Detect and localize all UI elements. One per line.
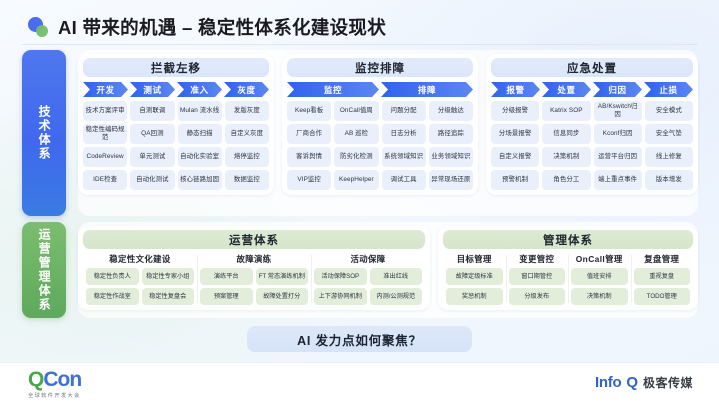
tech-cell-column: Mulan 流水线静态扫描自动化实验室核心链路加固 (178, 101, 222, 190)
ops-capability-cell: 故障处置打分 (256, 288, 309, 305)
tech-capability-cell: QA回测 (130, 124, 174, 144)
ops-column: 目标管理故障定级标准奖惩机制 (443, 252, 506, 305)
tech-capability-cell: 自定义报警 (491, 147, 539, 167)
slide-root: AI 带来的机遇 – 稳定性体系化建设现状 技术体系 运营管理体系 拦截左移开发… (0, 0, 719, 404)
ops-column: 复盘管理重视复盘TODO管理 (631, 252, 694, 305)
ops-capability-cell: 活动保障SOP (314, 268, 367, 285)
tech-stage-chevron: 止损 (644, 82, 693, 97)
tech-capability-cell: AB 巡检 (334, 124, 378, 144)
tech-cell-column: Katrix SOP信息同步决策机制角色分工 (542, 101, 590, 190)
ops-group-title: 运营体系 (83, 230, 425, 249)
ops-column-row: 目标管理故障定级标准奖惩机制变更管控窗口期管控分级发布OnCall管理值班安排决… (443, 252, 693, 305)
tech-capability-cell: 客诉舆情 (287, 147, 331, 167)
rail-ops-label: 运营管理体系 (37, 228, 51, 312)
rail-tech-label: 技术体系 (37, 105, 51, 161)
tech-stage-row: 开发测试准入灰度 (83, 82, 269, 97)
tech-capability-cell: 技术方案评审 (83, 101, 127, 121)
tech-stage-chevron: 处置 (542, 82, 591, 97)
ops-capability-cell: 稳定性负责人 (86, 268, 139, 285)
tech-capability-cell: KeepHelper (334, 170, 378, 190)
ops-cell-column: 重视复盘TODO管理 (634, 268, 691, 305)
ops-cell-grid: 重视复盘TODO管理 (634, 268, 691, 305)
ops-group-1: 运营体系稳定性文化建设稳定性负责人稳定性作战室稳定性专家小组稳定性复盘会故障演练… (78, 226, 430, 310)
tech-capability-cell: 安全模式 (645, 101, 693, 121)
ops-cell-column: FT 常态演练机制故障处置打分 (256, 268, 309, 305)
infoq-logo: InfoQ 极客传媒 (595, 374, 693, 391)
tech-capability-cell: AB/Kswitch归因 (594, 101, 642, 121)
infoq-logo-cn: 极客传媒 (643, 374, 693, 391)
qcon-logo-q: Q (28, 368, 43, 391)
tech-capability-cell: 自定义灰度 (225, 124, 269, 144)
ops-capability-cell: TODO管理 (634, 288, 691, 305)
tech-stage-chevron: 测试 (130, 82, 175, 97)
tech-cell-column: 发版灰度自定义灰度熔停监控数据监控 (225, 101, 269, 190)
tech-capability-cell: 单元测试 (130, 147, 174, 167)
ops-capability-cell: FT 常态演练机制 (256, 268, 309, 285)
tech-capability-cell: 信息同步 (542, 124, 590, 144)
qcon-logo-subtitle: 全球软件开发大会 (28, 392, 81, 399)
tech-capability-cell: 分级触达 (429, 101, 473, 121)
tech-stage-row: 监控排障 (287, 82, 473, 97)
tech-stage-chevron: 报警 (491, 82, 540, 97)
ops-cell-grid: 活动保障SOP上下游协同机制准出红线内测/公测规范 (314, 268, 422, 305)
tech-cell-column: 问题分配日志分析系统领域知识调试工具 (382, 101, 426, 190)
ops-group-title: 管理体系 (443, 230, 693, 249)
ops-capability-cell: 奖惩机制 (446, 288, 503, 305)
ops-cell-grid: 演练平台预案管理FT 常态演练机制故障处置打分 (200, 268, 308, 305)
tech-capability-cell: 异常现场还原 (429, 170, 473, 190)
header-divider (22, 44, 698, 45)
tech-group-title: 拦截左移 (83, 58, 269, 77)
ops-cell-column: 稳定性专家小组稳定性复盘会 (142, 268, 195, 305)
tech-capability-cell: 静态扫描 (178, 124, 222, 144)
tech-capability-cell: IDE检查 (83, 170, 127, 190)
tech-cell-column: Keep看板厂商合作客诉舆情VIP监控 (287, 101, 331, 190)
ops-capability-cell: 预案管理 (200, 288, 253, 305)
slide-header: AI 带来的机遇 – 稳定性体系化建设现状 (28, 14, 386, 40)
tech-capability-cell: Katrix SOP (542, 101, 590, 121)
ops-column: 故障演练演练平台预案管理FT 常态演练机制故障处置打分 (197, 252, 311, 305)
ops-group-2: 管理体系目标管理故障定级标准奖惩机制变更管控窗口期管控分级发布OnCall管理值… (438, 226, 698, 310)
tech-capability-cell: 业务领域知识 (429, 147, 473, 167)
two-circles-logo-icon (28, 17, 49, 38)
tech-capability-cell: 决策机制 (542, 147, 590, 167)
tech-capability-cell: 防劣化检测 (334, 147, 378, 167)
tech-cell-column: OnCall值周AB 巡检防劣化检测KeepHelper (334, 101, 378, 190)
ops-column: 变更管控窗口期管控分级发布 (506, 252, 569, 305)
ops-capability-cell: 分级发布 (509, 288, 566, 305)
tech-cell-column: 安全模式安全气垫线上修复版本增发 (645, 101, 693, 190)
ops-capability-cell: 稳定性专家小组 (142, 268, 195, 285)
tech-capability-cell: Keep看板 (287, 101, 331, 121)
tech-stage-chevron: 准入 (177, 82, 222, 97)
ops-column-heading: 活动保障 (314, 252, 422, 268)
infoq-logo-info: Info (595, 374, 621, 391)
tech-capability-cell: CodeReview (83, 147, 127, 167)
ops-column-heading: OnCall管理 (571, 252, 628, 268)
tech-stage-chevron: 排障 (381, 82, 473, 97)
tech-capability-cell: 自动化实验室 (178, 147, 222, 167)
tech-capability-cell: 自测联调 (130, 101, 174, 121)
tech-capability-cell: 系统领域知识 (382, 147, 426, 167)
tech-capability-cell: 厂商合作 (287, 124, 331, 144)
ops-cell-column: 活动保障SOP上下游协同机制 (314, 268, 367, 305)
tech-cell-grid: Keep看板厂商合作客诉舆情VIP监控OnCall值周AB 巡检防劣化检测Kee… (287, 101, 473, 190)
tech-capability-cell: 线上修复 (645, 147, 693, 167)
ops-capability-cell: 稳定性作战室 (86, 288, 139, 305)
tech-cell-column: 分级报警分场景报警自定义报警预警机制 (491, 101, 539, 190)
ops-capability-cell: 稳定性复盘会 (142, 288, 195, 305)
ops-column: 活动保障活动保障SOP上下游协同机制准出红线内测/公测规范 (311, 252, 425, 305)
ops-capability-cell: 内测/公测规范 (370, 288, 423, 305)
ops-capability-cell: 演练平台 (200, 268, 253, 285)
tech-capability-cell: 稳定性编码规范 (83, 124, 127, 144)
ops-capability-cell: 准出红线 (370, 268, 423, 285)
ops-cell-grid: 故障定级标准奖惩机制 (446, 268, 503, 305)
rail-tech-system: 技术体系 (22, 50, 66, 216)
tech-capability-cell: Mulan 流水线 (178, 101, 222, 121)
qcon-logo-con: Con (43, 368, 81, 391)
tech-capability-cell: 安全气垫 (645, 124, 693, 144)
tech-capability-cell: 版本增发 (645, 170, 693, 190)
ops-capability-cell: 窗口期管控 (509, 268, 566, 285)
tech-capability-cell: 发版灰度 (225, 101, 269, 121)
ops-capability-cell: 故障定级标准 (446, 268, 503, 285)
tech-capability-cell: OnCall值周 (334, 101, 378, 121)
tech-group-title: 应急处置 (491, 58, 693, 77)
ops-column-heading: 稳定性文化建设 (86, 252, 194, 268)
tech-cell-column: 自测联调QA回测单元测试自动化测试 (130, 101, 174, 190)
ops-cell-grid: 稳定性负责人稳定性作战室稳定性专家小组稳定性复盘会 (86, 268, 194, 305)
tech-capability-cell: 数据监控 (225, 170, 269, 190)
slide-footer: QCon 全球软件开发大会 InfoQ 极客传媒 (0, 362, 719, 404)
ops-column-heading: 变更管控 (509, 252, 566, 268)
ops-column-row: 稳定性文化建设稳定性负责人稳定性作战室稳定性专家小组稳定性复盘会故障演练演练平台… (83, 252, 425, 305)
ops-column-heading: 目标管理 (446, 252, 503, 268)
ops-capability-cell: 决策机制 (571, 288, 628, 305)
ops-capability-cell: 值班安排 (571, 268, 628, 285)
tech-group-title: 监控排障 (287, 58, 473, 77)
infoq-logo-q: Q (626, 374, 638, 391)
ops-cell-column: 演练平台预案管理 (200, 268, 253, 305)
tech-stage-chevron: 归因 (593, 82, 642, 97)
tech-capability-cell: 路径追踪 (429, 124, 473, 144)
tech-capability-cell: 熔停监控 (225, 147, 269, 167)
tech-capability-cell: 调试工具 (382, 170, 426, 190)
ops-column: OnCall管理值班安排决策机制 (568, 252, 631, 305)
focus-question-text: AI 发力点如何聚焦？ (297, 330, 422, 349)
tech-capability-cell: 分级报警 (491, 101, 539, 121)
tech-stage-row: 报警处置归因止损 (491, 82, 693, 97)
tech-capability-cell: 自动化测试 (130, 170, 174, 190)
tech-group-2: 监控排障监控排障Keep看板厂商合作客诉舆情VIP监控OnCall值周AB 巡检… (282, 54, 478, 195)
ops-cell-grid: 值班安排决策机制 (571, 268, 628, 305)
ops-capability-cell: 重视复盘 (634, 268, 691, 285)
ops-cell-column: 稳定性负责人稳定性作战室 (86, 268, 139, 305)
rail-ops-system: 运营管理体系 (22, 222, 66, 318)
tech-capability-cell: 分场景报警 (491, 124, 539, 144)
tech-capability-cell: 预警机制 (491, 170, 539, 190)
tech-capability-cell: 运营平台归因 (594, 147, 642, 167)
tech-group-1: 拦截左移开发测试准入灰度技术方案评审稳定性编码规范CodeReviewIDE检查… (78, 54, 274, 195)
qcon-logo: QCon 全球软件开发大会 (28, 369, 81, 399)
tech-stage-chevron: 灰度 (224, 82, 269, 97)
ops-column-heading: 复盘管理 (634, 252, 691, 268)
tech-cell-grid: 技术方案评审稳定性编码规范CodeReviewIDE检查自测联调QA回测单元测试… (83, 101, 269, 190)
ops-cell-grid: 窗口期管控分级发布 (509, 268, 566, 305)
tech-group-3: 应急处置报警处置归因止损分级报警分场景报警自定义报警预警机制Katrix SOP… (486, 54, 698, 195)
tech-stage-chevron: 开发 (83, 82, 128, 97)
tech-cell-grid: 分级报警分场景报警自定义报警预警机制Katrix SOP信息同步决策机制角色分工… (491, 101, 693, 190)
tech-capability-cell: 日志分析 (382, 124, 426, 144)
page-title: AI 带来的机遇 – 稳定性体系化建设现状 (58, 14, 386, 40)
tech-capability-cell: Kconf归因 (594, 124, 642, 144)
ops-cell-column: 窗口期管控分级发布 (509, 268, 566, 305)
ops-capability-cell: 上下游协同机制 (314, 288, 367, 305)
ops-cell-column: 准出红线内测/公测规范 (370, 268, 423, 305)
tech-capability-cell: 角色分工 (542, 170, 590, 190)
tech-capability-cell: VIP监控 (287, 170, 331, 190)
tech-cell-column: AB/Kswitch归因Kconf归因运营平台归因端上重点事件 (594, 101, 642, 190)
tech-cell-column: 分级触达路径追踪业务领域知识异常现场还原 (429, 101, 473, 190)
tech-cell-column: 技术方案评审稳定性编码规范CodeReviewIDE检查 (83, 101, 127, 190)
tech-capability-cell: 核心链路加固 (178, 170, 222, 190)
tech-capability-cell: 端上重点事件 (594, 170, 642, 190)
ops-cell-column: 故障定级标准奖惩机制 (446, 268, 503, 305)
tech-capability-cell: 问题分配 (382, 101, 426, 121)
ops-column: 稳定性文化建设稳定性负责人稳定性作战室稳定性专家小组稳定性复盘会 (83, 252, 197, 305)
ops-cell-column: 值班安排决策机制 (571, 268, 628, 305)
ops-column-heading: 故障演练 (200, 252, 308, 268)
tech-stage-chevron: 监控 (287, 82, 379, 97)
focus-question-pill: AI 发力点如何聚焦？ (247, 326, 472, 352)
